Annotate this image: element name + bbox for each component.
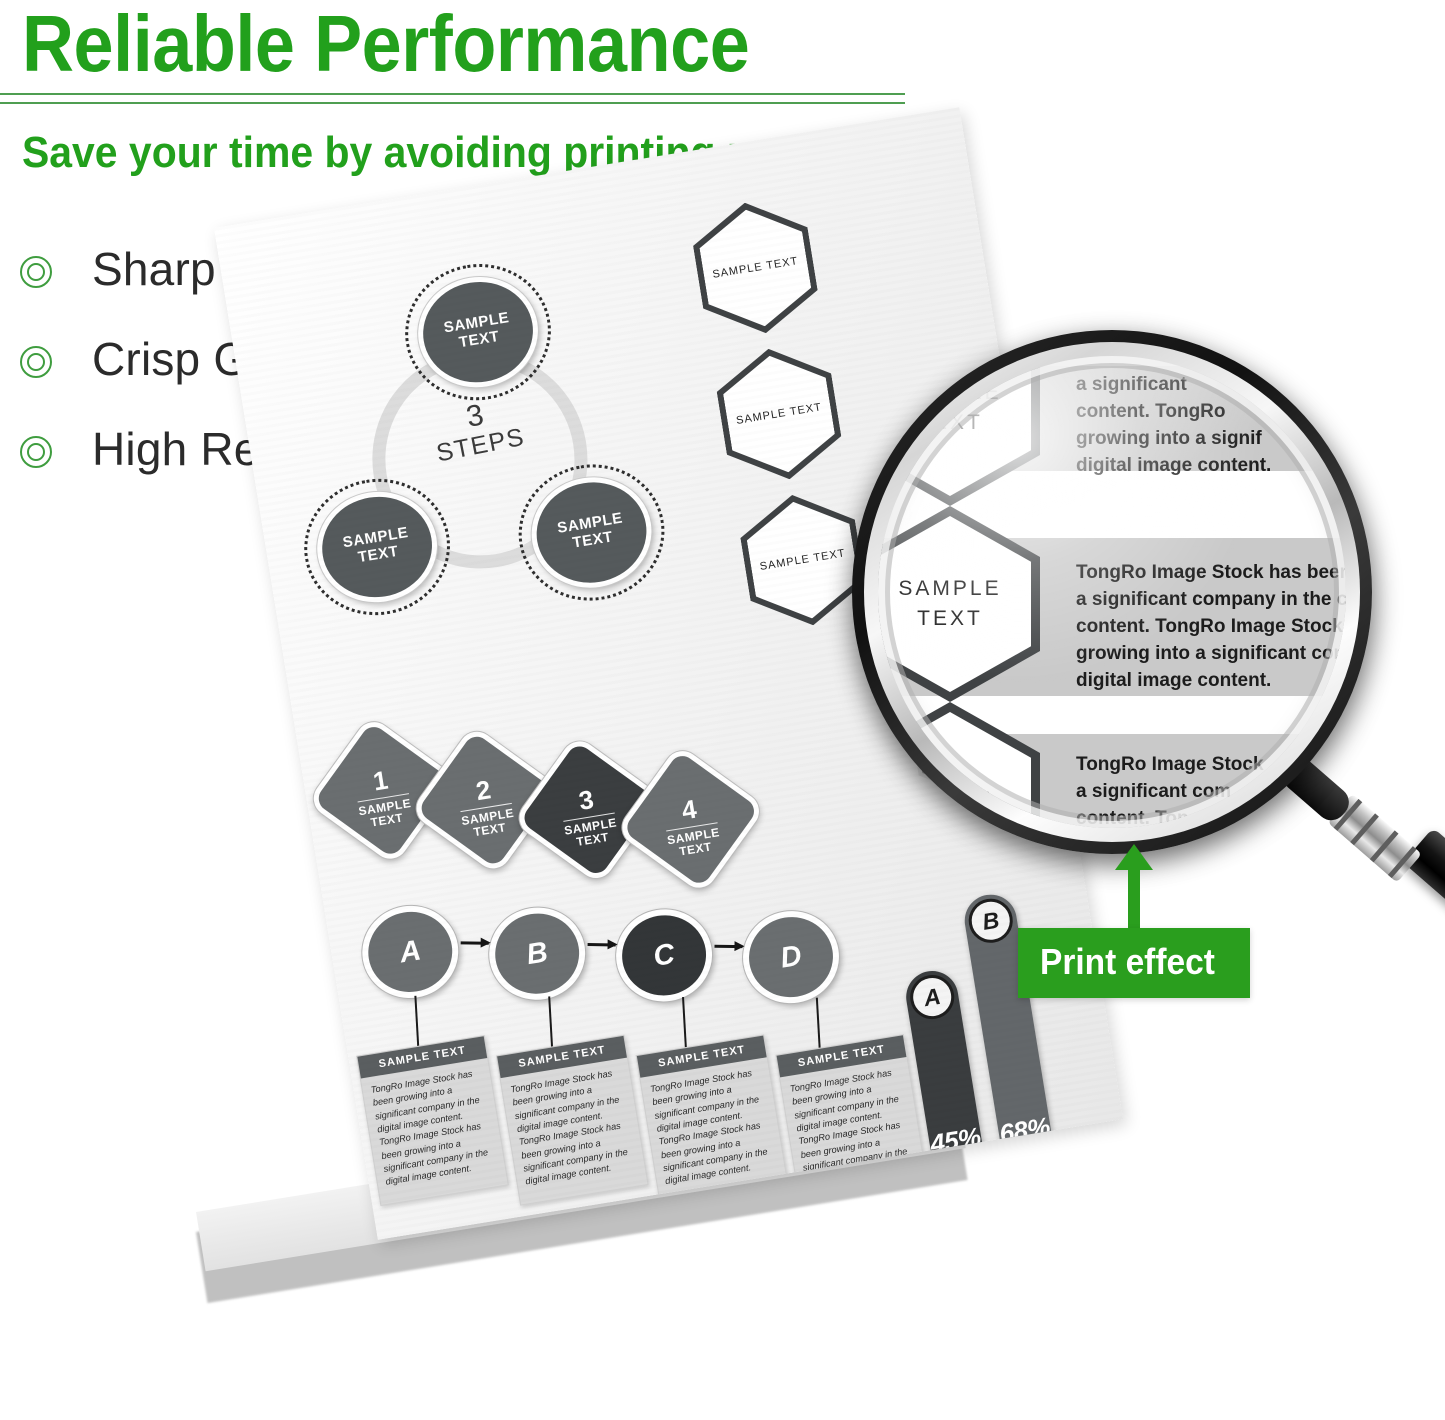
- double-circle-bullet-icon: [20, 256, 52, 288]
- step-caption: SAMPLETEXT: [358, 797, 415, 832]
- abcd-flow-diagram: A B C D: [356, 839, 841, 1042]
- hexagon-label: AMPLE: [878, 712, 1031, 828]
- bar-label: A: [907, 972, 957, 1022]
- dotted-ring-icon: [395, 253, 561, 411]
- cycle-center-label: 3 STEPS: [413, 389, 542, 469]
- divider-icon: [358, 793, 409, 802]
- magnified-paragraph: TongRo Image Stocka significant comconte…: [1076, 752, 1264, 828]
- cycle-ring: [356, 335, 603, 585]
- divider-line-top: [0, 93, 905, 95]
- connector-line: [816, 998, 821, 1056]
- three-steps-cycle-diagram: SAMPLETEXT SAMPLETEXT SAMPLETEXT 3 STEPS: [268, 251, 692, 675]
- step-number: 3: [577, 786, 595, 814]
- bar-percent: 68%: [997, 1111, 1052, 1150]
- divider-icon: [460, 803, 511, 812]
- dotted-ring-icon: [509, 454, 675, 612]
- hexagon-label: SAMPLETEXT: [878, 516, 1031, 692]
- numbered-steps-row: 1 SAMPLETEXT 2 SAMPLETEXT 3 SAMPLETEXT: [316, 649, 769, 895]
- connector-line: [682, 997, 687, 1055]
- flow-arrow-icon: [714, 945, 742, 948]
- double-circle-bullet-icon: [20, 436, 52, 468]
- callout-label: Print effect: [1040, 941, 1215, 983]
- connector-line: [548, 996, 553, 1054]
- connector-dot-icon: [819, 1052, 828, 1061]
- magnified-paragraph: TongRo Image Stock has beena significant…: [1076, 560, 1346, 695]
- cycle-center-word: STEPS: [419, 421, 542, 470]
- cycle-node: SAMPLETEXT: [309, 483, 445, 611]
- step-number: 4: [680, 795, 698, 823]
- step-diamond: 2 SAMPLETEXT: [410, 725, 561, 876]
- flow-node: B: [482, 901, 591, 1007]
- heading-divider: [0, 93, 905, 109]
- cycle-node-label: SAMPLETEXT: [443, 310, 514, 354]
- hexagon-outline: SAMPLETEXT: [878, 356, 1040, 506]
- cycle-node-label: SAMPLETEXT: [556, 511, 627, 555]
- step-number: 1: [371, 766, 389, 794]
- connector-dot-icon: [685, 1051, 694, 1060]
- callout-arrow-icon: [1128, 866, 1140, 928]
- divider-icon: [563, 812, 614, 821]
- flow-arrow-icon: [461, 941, 489, 944]
- callout-badge: Print effect: [1018, 928, 1250, 998]
- ferrule-ring: [1350, 813, 1379, 845]
- hexagon-outline: AMPLE: [878, 702, 1040, 828]
- magnified-content: SAMPLETEXT SAMPLETEXT AMPLE a significan…: [878, 356, 1346, 828]
- step-caption: SAMPLETEXT: [666, 826, 723, 861]
- card-header: SAMPLE TEXT: [497, 1036, 627, 1078]
- percent-bar: A 45%: [902, 967, 985, 1168]
- ferrule-ring: [1388, 846, 1417, 878]
- flow-node: C: [609, 902, 718, 1008]
- connector-line: [414, 996, 419, 1054]
- bar-label: B: [966, 895, 1016, 945]
- card-body: TongRo Image Stock has been growing into…: [361, 1058, 507, 1200]
- page-title: Reliable Performance: [22, 0, 749, 90]
- cycle-node: SAMPLETEXT: [410, 268, 546, 396]
- step-caption: SAMPLETEXT: [563, 816, 620, 851]
- cycle-node-label: SAMPLETEXT: [342, 525, 413, 569]
- hexagon-label: SAMPLETEXT: [878, 356, 1031, 496]
- print-effect-callout: Print effect: [1018, 928, 1250, 998]
- percent-bar-chart: A 45% B 68%: [888, 863, 1091, 1165]
- connector-dot-icon: [551, 1050, 560, 1059]
- cycle-center-number: 3: [464, 398, 487, 434]
- step-diamond: 4 SAMPLETEXT: [615, 744, 766, 895]
- dotted-ring-icon: [294, 468, 460, 626]
- hexagon-outline: SAMPLE TEXT: [688, 194, 824, 343]
- lens-glass: SAMPLETEXT SAMPLETEXT AMPLE a significan…: [878, 356, 1346, 828]
- card-body: TongRo Image Stock has been growing into…: [501, 1058, 647, 1200]
- step-diamond: 1 SAMPLETEXT: [307, 715, 458, 866]
- hexagon-label: SAMPLE TEXT: [718, 348, 840, 481]
- cycle-node: SAMPLETEXT: [524, 469, 660, 597]
- magnified-paragraph: a significantcontent. TongRogrowing into…: [1076, 372, 1271, 480]
- flow-node: D: [736, 904, 845, 1010]
- text-card: SAMPLE TEXT TongRo Image Stock has been …: [356, 1035, 509, 1206]
- step-number: 2: [474, 776, 492, 804]
- divider-icon: [666, 822, 717, 831]
- hexagon-label: SAMPLE TEXT: [695, 201, 817, 334]
- step-caption: SAMPLETEXT: [461, 807, 518, 842]
- magnifying-glass: SAMPLETEXT SAMPLETEXT AMPLE a significan…: [840, 318, 1400, 888]
- flow-node: A: [356, 899, 465, 1005]
- connector-dot-icon: [417, 1050, 426, 1059]
- step-diamond: 3 SAMPLETEXT: [512, 734, 663, 885]
- card-header: SAMPLE TEXT: [777, 1035, 907, 1077]
- card-header: SAMPLE TEXT: [357, 1036, 487, 1078]
- text-card: SAMPLE TEXT TongRo Image Stock has been …: [496, 1035, 649, 1206]
- double-circle-bullet-icon: [20, 346, 52, 378]
- ferrule-ring: [1370, 830, 1399, 862]
- divider-line-bottom: [0, 102, 905, 104]
- hexagon-outline: SAMPLE TEXT: [711, 340, 847, 489]
- card-header: SAMPLE TEXT: [637, 1036, 767, 1078]
- flow-arrow-icon: [588, 943, 616, 946]
